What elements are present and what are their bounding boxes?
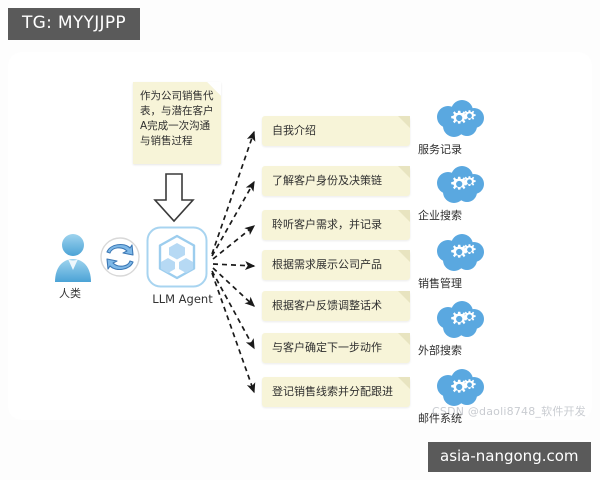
task-label: 自我介绍 — [272, 116, 316, 146]
task-label: 聆听客户需求，并记录 — [272, 210, 382, 240]
tool-label: 企业搜索 — [414, 207, 506, 223]
tool-label: 销售管理 — [414, 275, 506, 291]
task-fold-corner-icon — [398, 116, 410, 128]
task-box[interactable]: 根据需求展示公司产品 — [262, 250, 410, 280]
human-user-icon — [50, 232, 96, 284]
tool-cloud-item[interactable]: 邮件系统 — [414, 369, 506, 426]
cloud-gear-icon — [432, 234, 488, 274]
task-box[interactable]: 根据客户反馈调整话术 — [262, 291, 410, 321]
cloud-gear-icon — [432, 100, 488, 140]
task-fold-corner-icon — [398, 333, 410, 345]
task-box[interactable]: 登记销售线索并分配跟进 — [262, 377, 410, 407]
task-box[interactable]: 了解客户身份及决策链 — [262, 166, 410, 196]
task-box[interactable]: 自我介绍 — [262, 116, 410, 146]
tg-banner: TG: MYYJJPP — [8, 8, 140, 40]
task-fold-corner-icon — [398, 250, 410, 262]
llm-agent-icon — [146, 226, 208, 288]
tool-cloud-item[interactable]: 外部搜索 — [414, 301, 506, 358]
cloud-gear-icon — [432, 369, 488, 409]
cloud-gear-icon — [432, 301, 488, 341]
task-fold-corner-icon — [398, 377, 410, 389]
tool-label: 外部搜索 — [414, 342, 506, 358]
tool-label: 邮件系统 — [414, 410, 506, 426]
task-label: 根据客户反馈调整话术 — [272, 291, 382, 321]
task-label: 根据需求展示公司产品 — [272, 250, 382, 280]
tool-cloud-item[interactable]: 销售管理 — [414, 234, 506, 291]
task-label: 登记销售线索并分配跟进 — [272, 377, 393, 407]
prompt-sticky-note: 作为公司销售代表，与潜在客户A完成一次沟通与销售过程 — [133, 82, 221, 164]
diagram-canvas: 作为公司销售代表，与潜在客户A完成一次沟通与销售过程 人类 — [0, 0, 600, 480]
task-fold-corner-icon — [398, 166, 410, 178]
prompt-note-text: 作为公司销售代表，与潜在客户A完成一次沟通与销售过程 — [140, 89, 216, 149]
tool-cloud-item[interactable]: 服务记录 — [414, 100, 506, 157]
tool-cloud-item[interactable]: 企业搜索 — [414, 166, 506, 223]
llm-agent-label: LLM Agent — [135, 292, 230, 306]
task-box[interactable]: 聆听客户需求，并记录 — [262, 210, 410, 240]
task-box[interactable]: 与客户确定下一步动作 — [262, 333, 410, 363]
tool-label: 服务记录 — [414, 141, 506, 157]
sync-exchange-icon — [98, 234, 142, 280]
task-fold-corner-icon — [398, 291, 410, 303]
task-label: 与客户确定下一步动作 — [272, 333, 382, 363]
task-fold-corner-icon — [398, 210, 410, 222]
human-label: 人类 — [40, 285, 100, 301]
down-arrow-icon — [152, 172, 196, 224]
cloud-gear-icon — [432, 166, 488, 206]
task-label: 了解客户身份及决策链 — [272, 166, 382, 196]
site-banner: asia-nangong.com — [428, 442, 591, 472]
